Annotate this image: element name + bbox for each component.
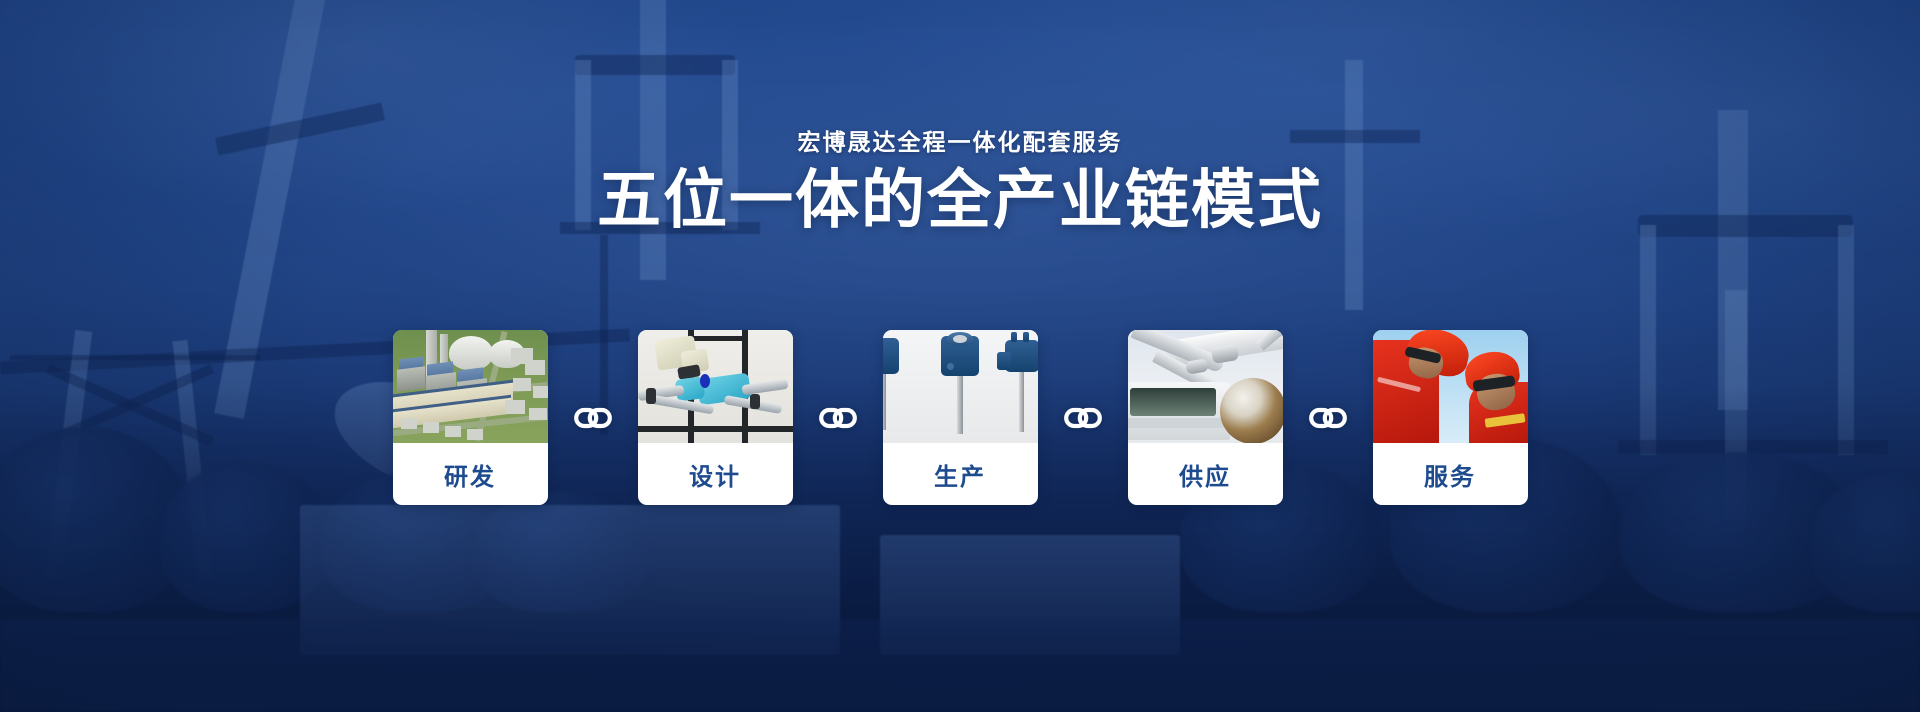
chain-link-icon xyxy=(1308,405,1348,431)
value-chain-row: 研发 xyxy=(0,330,1920,505)
chain-card-production-label: 生产 xyxy=(883,443,1038,505)
chain-card-research[interactable]: 研发 xyxy=(393,330,548,505)
chain-connector-4 xyxy=(1283,330,1373,505)
chain-card-service-label: 服务 xyxy=(1373,443,1528,505)
chain-card-supply[interactable]: 供应 xyxy=(1128,330,1283,505)
chain-card-research-image xyxy=(393,330,548,443)
hero-banner: 宏博晟达全程一体化配套服务 五位一体的全产业链模式 xyxy=(0,0,1920,712)
chain-card-research-label: 研发 xyxy=(393,443,548,505)
chain-link-icon xyxy=(818,405,858,431)
chain-card-supply-label: 供应 xyxy=(1128,443,1283,505)
banner-title: 五位一体的全产业链模式 xyxy=(0,166,1920,236)
field-workers-red-helmet-image xyxy=(1373,330,1528,443)
chain-link-icon xyxy=(1063,405,1103,431)
chain-card-supply-image xyxy=(1128,330,1283,443)
plane-truck-globe-logistics-image xyxy=(1128,330,1283,443)
industrial-plant-aerial-image xyxy=(393,330,548,443)
chain-card-design-image xyxy=(638,330,793,443)
chain-card-production[interactable]: 生产 xyxy=(883,330,1038,505)
blue-level-sensor-image xyxy=(883,330,1038,443)
cad-piping-render-image xyxy=(638,330,793,443)
banner-content: 宏博晟达全程一体化配套服务 五位一体的全产业链模式 xyxy=(0,0,1920,712)
chain-connector-2 xyxy=(793,330,883,505)
chain-card-design[interactable]: 设计 xyxy=(638,330,793,505)
chain-card-service-image xyxy=(1373,330,1528,443)
chain-connector-3 xyxy=(1038,330,1128,505)
chain-connector-1 xyxy=(548,330,638,505)
chain-card-design-label: 设计 xyxy=(638,443,793,505)
chain-link-icon xyxy=(573,405,613,431)
chain-card-service[interactable]: 服务 xyxy=(1373,330,1528,505)
banner-subtitle: 宏博晟达全程一体化配套服务 xyxy=(0,123,1920,157)
chain-card-production-image xyxy=(883,330,1038,443)
